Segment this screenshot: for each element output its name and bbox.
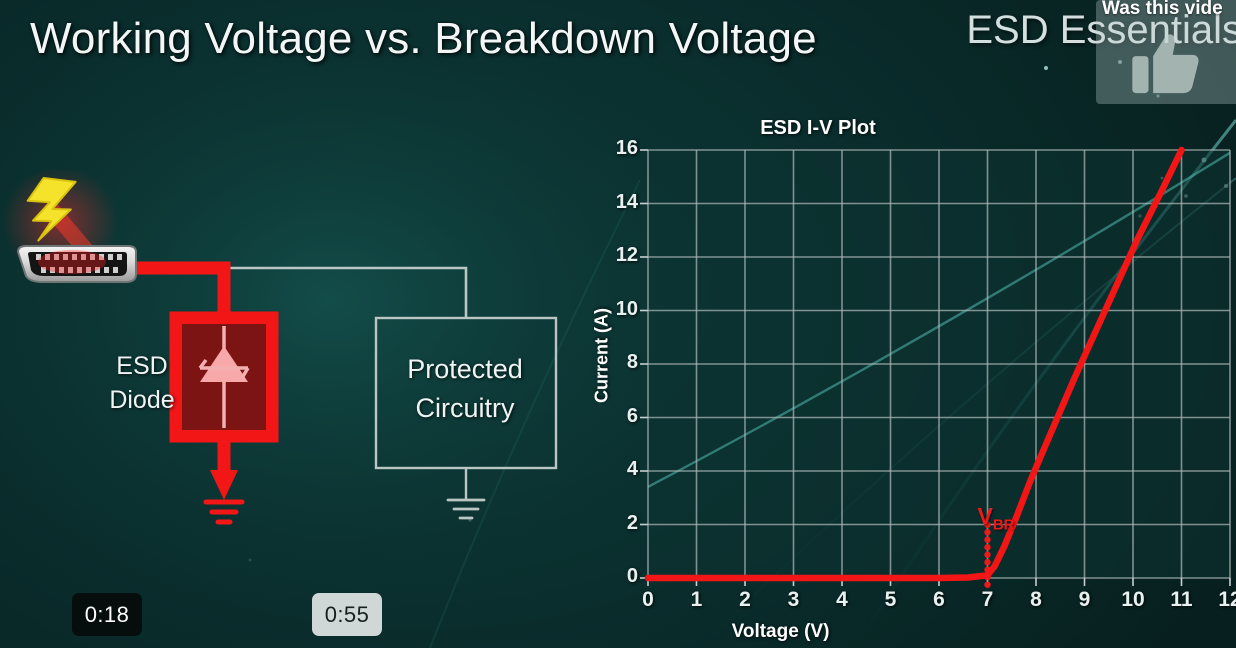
hdmi-connector-icon	[18, 246, 136, 282]
esd-iv-chart: ESD I-V Plot Current (A) Voltage (V) 024…	[575, 105, 1236, 648]
video-frame: Working Voltage vs. Breakdown Voltage ES…	[0, 0, 1236, 648]
vbr-symbol: V	[978, 503, 993, 529]
survey-prompt-text: Was this vide	[1102, 0, 1223, 20]
protected-circuitry-label-line1: Protected	[407, 354, 523, 384]
thumbs-up-icon[interactable]	[1128, 26, 1206, 100]
esd-diode-label-line1: ESD	[116, 352, 167, 380]
chart-plot-area	[575, 105, 1236, 648]
ground-symbol-icon-protected	[448, 500, 484, 518]
total-time-badge[interactable]: 0:55	[312, 593, 382, 636]
protected-circuitry-label: Protected Circuitry	[378, 350, 552, 428]
ground-symbol-icon	[206, 502, 242, 522]
page-title: Working Voltage vs. Breakdown Voltage	[30, 14, 817, 64]
survey-overlay-card[interactable]: Was this vide	[1096, 0, 1236, 104]
breakdown-voltage-annotation: VBR	[978, 503, 1015, 534]
esd-diode-label: ESD Diode	[92, 350, 192, 418]
current-time-badge[interactable]: 0:18	[72, 593, 142, 636]
signal-wire	[138, 268, 466, 318]
vbr-subscript: BR	[993, 516, 1015, 533]
protected-circuitry-label-line2: Circuitry	[416, 393, 515, 423]
esd-diode-label-line2: Diode	[109, 386, 174, 414]
